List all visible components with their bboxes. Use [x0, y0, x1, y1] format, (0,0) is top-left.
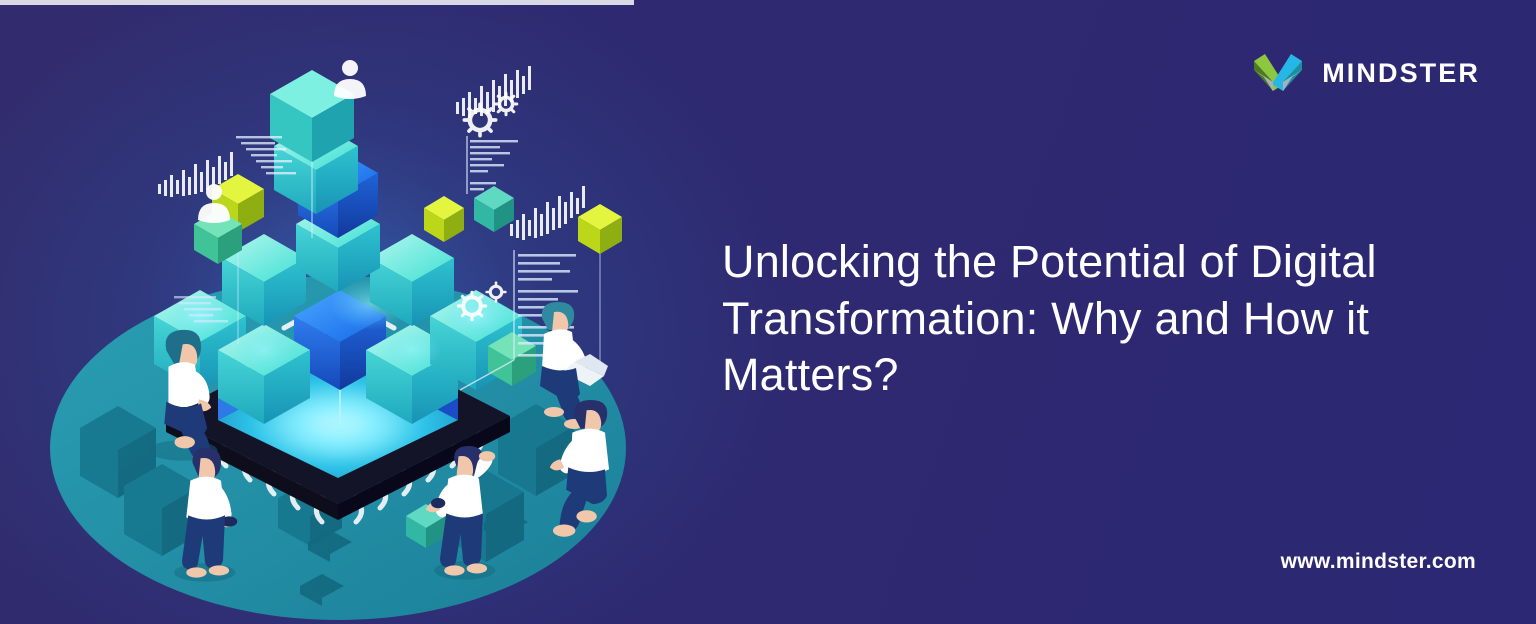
mindster-logo-mark [1252, 50, 1304, 96]
blog-banner: MINDSTER Unlocking the Potential of Digi… [0, 0, 1536, 624]
website-url[interactable]: www.mindster.com [1281, 550, 1476, 574]
illustration [40, 28, 660, 624]
top-accent-strip [0, 0, 634, 5]
page-title: Unlocking the Potential of Digital Trans… [722, 234, 1478, 404]
floating-yellow-cube-right [578, 204, 622, 254]
brand-logo[interactable]: MINDSTER [1252, 50, 1480, 96]
brand-wordmark: MINDSTER [1322, 58, 1480, 89]
